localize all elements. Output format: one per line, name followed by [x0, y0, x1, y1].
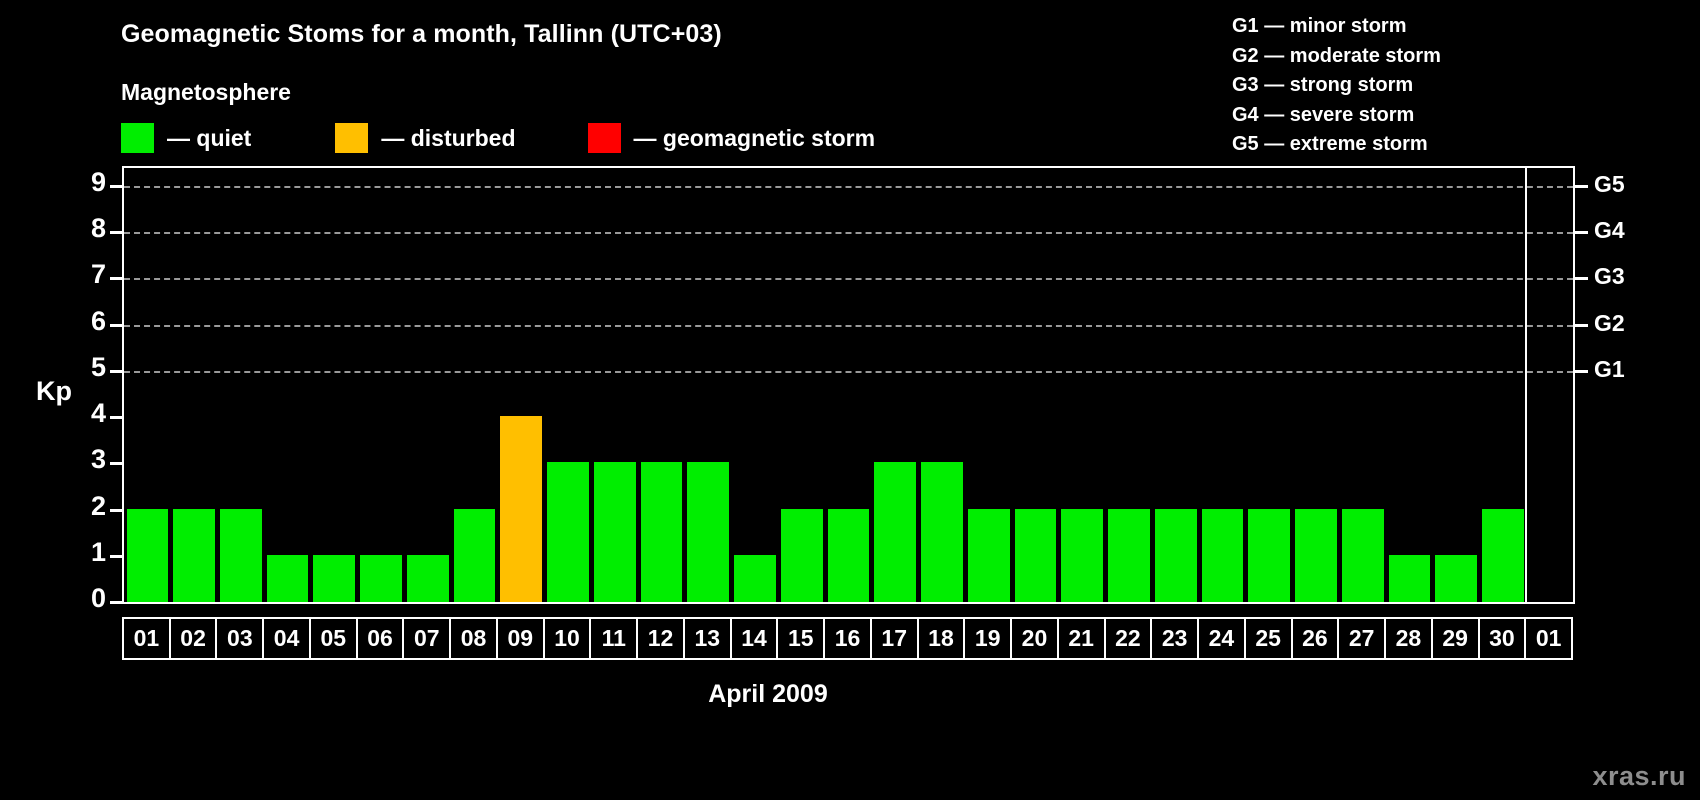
- g-axis-label-g1: G1: [1594, 356, 1625, 383]
- x-axis-date-labels: 0102030405060708091011121314151617181920…: [122, 617, 1575, 660]
- date-cell-08: 08: [449, 617, 498, 660]
- bar-day-23: [1155, 509, 1197, 603]
- legend-item-disturbed: — disturbed: [335, 122, 515, 154]
- bar-day-14: [734, 555, 776, 603]
- bar-day-21: [1061, 509, 1103, 603]
- y-tick-label-2: 2: [76, 491, 106, 522]
- date-cell-02: 02: [169, 617, 218, 660]
- g-axis-label-g4: G4: [1594, 217, 1625, 244]
- y-tick-0: [110, 601, 123, 604]
- y-tick-8: [110, 231, 123, 234]
- g-tick-g4: [1575, 231, 1588, 234]
- bar-day-08: [454, 509, 496, 603]
- bar-day-04: [267, 555, 309, 603]
- y-tick-label-7: 7: [76, 259, 106, 290]
- g-tick-g2: [1575, 324, 1588, 327]
- bar-day-30: [1482, 509, 1524, 603]
- y-tick-label-4: 4: [76, 398, 106, 429]
- date-cell-26: 26: [1291, 617, 1340, 660]
- y-tick-2: [110, 509, 123, 512]
- y-tick-4: [110, 416, 123, 419]
- gridline-kp-8: [124, 232, 1573, 234]
- bar-day-07: [407, 555, 449, 603]
- chart-canvas: Geomagnetic Stoms for a month, Tallinn (…: [0, 0, 1700, 800]
- bar-day-05: [313, 555, 355, 603]
- date-cell-15: 15: [776, 617, 825, 660]
- date-cell-09: 09: [496, 617, 545, 660]
- bar-day-06: [360, 555, 402, 603]
- bar-day-10: [547, 462, 589, 603]
- y-tick-label-6: 6: [76, 306, 106, 337]
- watermark: xras.ru: [1592, 761, 1686, 792]
- x-axis-line: [122, 602, 1575, 604]
- gridline-kp-7: [124, 278, 1573, 280]
- date-cell-29: 29: [1431, 617, 1480, 660]
- date-cell-11: 11: [589, 617, 638, 660]
- plot-area: [124, 168, 1573, 603]
- gridline-kp-5: [124, 371, 1573, 373]
- bar-day-22: [1108, 509, 1150, 603]
- legend-label-geomagnetic-storm: — geomagnetic storm: [634, 127, 876, 150]
- legend-swatch-quiet: [121, 123, 154, 153]
- g-tick-g1: [1575, 370, 1588, 373]
- g-tick-g5: [1575, 185, 1588, 188]
- date-cell-30: 30: [1478, 617, 1527, 660]
- g-axis-label-g5: G5: [1594, 171, 1625, 198]
- date-cell-22: 22: [1104, 617, 1153, 660]
- date-cell-12: 12: [636, 617, 685, 660]
- y-tick-3: [110, 462, 123, 465]
- bar-day-11: [594, 462, 636, 603]
- date-cell-04: 04: [262, 617, 311, 660]
- bar-day-24: [1202, 509, 1244, 603]
- gridline-kp-6: [124, 325, 1573, 327]
- g-axis-label-g2: G2: [1594, 310, 1625, 337]
- legend-label-disturbed: — disturbed: [381, 127, 515, 150]
- date-cell-16: 16: [823, 617, 872, 660]
- bar-day-29: [1435, 555, 1477, 603]
- bar-day-18: [921, 462, 963, 603]
- bar-day-09: [500, 416, 542, 603]
- y-tick-7: [110, 277, 123, 280]
- g-tick-g3: [1575, 277, 1588, 280]
- y-tick-9: [110, 185, 123, 188]
- date-cell-25: 25: [1244, 617, 1293, 660]
- legend-label-quiet: — quiet: [167, 127, 251, 150]
- date-cell-19: 19: [963, 617, 1012, 660]
- bar-day-26: [1295, 509, 1337, 603]
- bar-day-13: [687, 462, 729, 603]
- bar-day-19: [968, 509, 1010, 603]
- date-cell-06: 06: [356, 617, 405, 660]
- legend-swatch-geomagnetic-storm: [588, 123, 621, 153]
- date-cell-05: 05: [309, 617, 358, 660]
- legend-swatch-disturbed: [335, 123, 368, 153]
- date-cell-17: 17: [870, 617, 919, 660]
- g-axis-label-g3: G3: [1594, 263, 1625, 290]
- y-tick-label-3: 3: [76, 444, 106, 475]
- date-cell-01: 01: [122, 617, 171, 660]
- date-cell-14: 14: [730, 617, 779, 660]
- y-tick-6: [110, 324, 123, 327]
- storm-scale-line-g1: G1 — minor storm: [1232, 12, 1441, 42]
- gridline-kp-9: [124, 186, 1573, 188]
- bar-day-25: [1248, 509, 1290, 603]
- date-cell-24: 24: [1197, 617, 1246, 660]
- date-cell-27: 27: [1337, 617, 1386, 660]
- legend-heading: Magnetosphere: [121, 79, 291, 106]
- date-cell-20: 20: [1010, 617, 1059, 660]
- y-tick-label-9: 9: [76, 167, 106, 198]
- bar-day-01: [127, 509, 169, 603]
- date-cell-03: 03: [215, 617, 264, 660]
- y-tick-5: [110, 370, 123, 373]
- storm-scale-legend: G1 — minor storm G2 — moderate storm G3 …: [1232, 12, 1441, 160]
- date-cell-13: 13: [683, 617, 732, 660]
- legend: — quiet — disturbed — geomagnetic storm: [121, 122, 875, 154]
- date-cell-23: 23: [1150, 617, 1199, 660]
- date-cell-01-next: 01: [1524, 617, 1573, 660]
- page-title: Geomagnetic Stoms for a month, Tallinn (…: [121, 20, 722, 49]
- bar-day-17: [874, 462, 916, 603]
- storm-scale-line-g4: G4 — severe storm: [1232, 101, 1441, 131]
- x-axis-title: April 2009: [0, 680, 1618, 709]
- y-axis-title: Kp: [36, 376, 72, 407]
- legend-item-quiet: — quiet: [121, 122, 251, 154]
- legend-item-geomagnetic-storm: — geomagnetic storm: [588, 122, 876, 154]
- date-cell-18: 18: [917, 617, 966, 660]
- bar-day-02: [173, 509, 215, 603]
- y-tick-label-1: 1: [76, 537, 106, 568]
- bar-day-28: [1389, 555, 1431, 603]
- date-cell-10: 10: [543, 617, 592, 660]
- y-tick-label-8: 8: [76, 213, 106, 244]
- date-cell-07: 07: [402, 617, 451, 660]
- storm-scale-line-g5: G5 — extreme storm: [1232, 130, 1441, 160]
- y-tick-label-5: 5: [76, 352, 106, 383]
- bar-day-27: [1342, 509, 1384, 603]
- storm-scale-line-g2: G2 — moderate storm: [1232, 42, 1441, 72]
- bar-day-20: [1015, 509, 1057, 603]
- bar-day-15: [781, 509, 823, 603]
- bar-day-12: [641, 462, 683, 603]
- bar-day-16: [828, 509, 870, 603]
- y-tick-label-0: 0: [76, 583, 106, 614]
- bar-day-03: [220, 509, 262, 603]
- date-cell-28: 28: [1384, 617, 1433, 660]
- storm-scale-line-g3: G3 — strong storm: [1232, 71, 1441, 101]
- y-tick-1: [110, 555, 123, 558]
- date-cell-21: 21: [1057, 617, 1106, 660]
- plot-divider: [1525, 166, 1527, 603]
